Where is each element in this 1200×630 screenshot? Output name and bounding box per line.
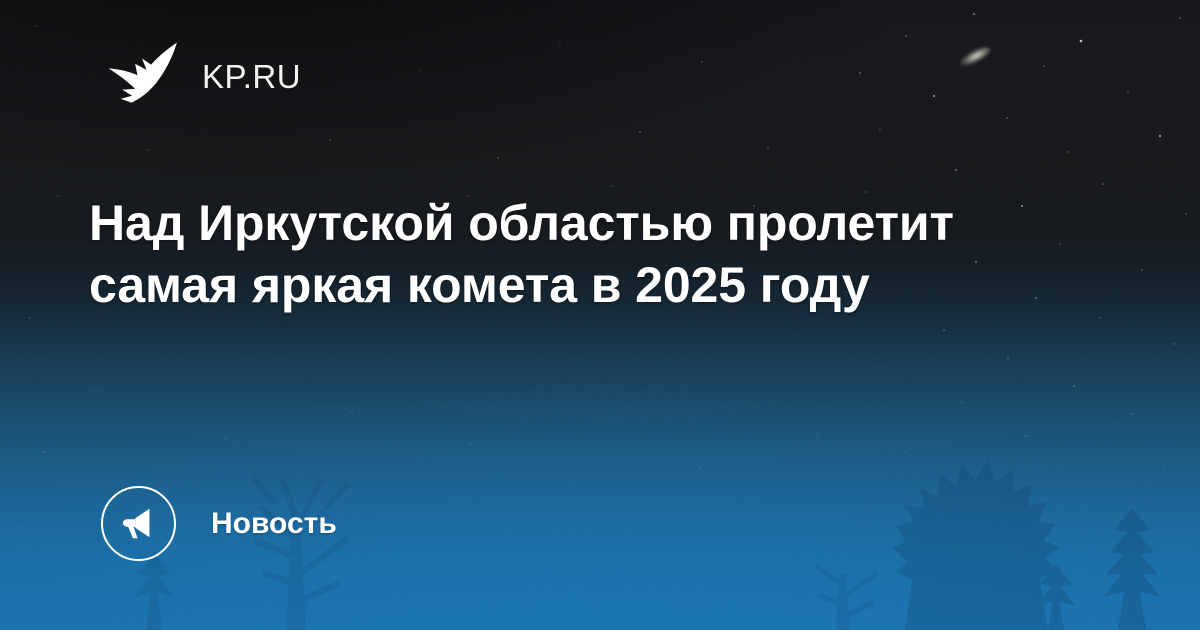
status-badge-label: Новость: [211, 509, 337, 539]
status-badge[interactable]: Новость: [101, 486, 337, 561]
share-card: KP.RU Над Иркутской областью пролетит са…: [0, 0, 1200, 630]
megaphone-icon: [101, 486, 176, 561]
page-title: Над Иркутской областью пролетит самая яр…: [89, 192, 989, 316]
card-content: KP.RU Над Иркутской областью пролетит са…: [0, 0, 1200, 630]
swallow-bird-icon: [104, 38, 180, 114]
brand-logo[interactable]: KP.RU: [104, 38, 301, 114]
brand-logo-text: KP.RU: [202, 60, 301, 93]
